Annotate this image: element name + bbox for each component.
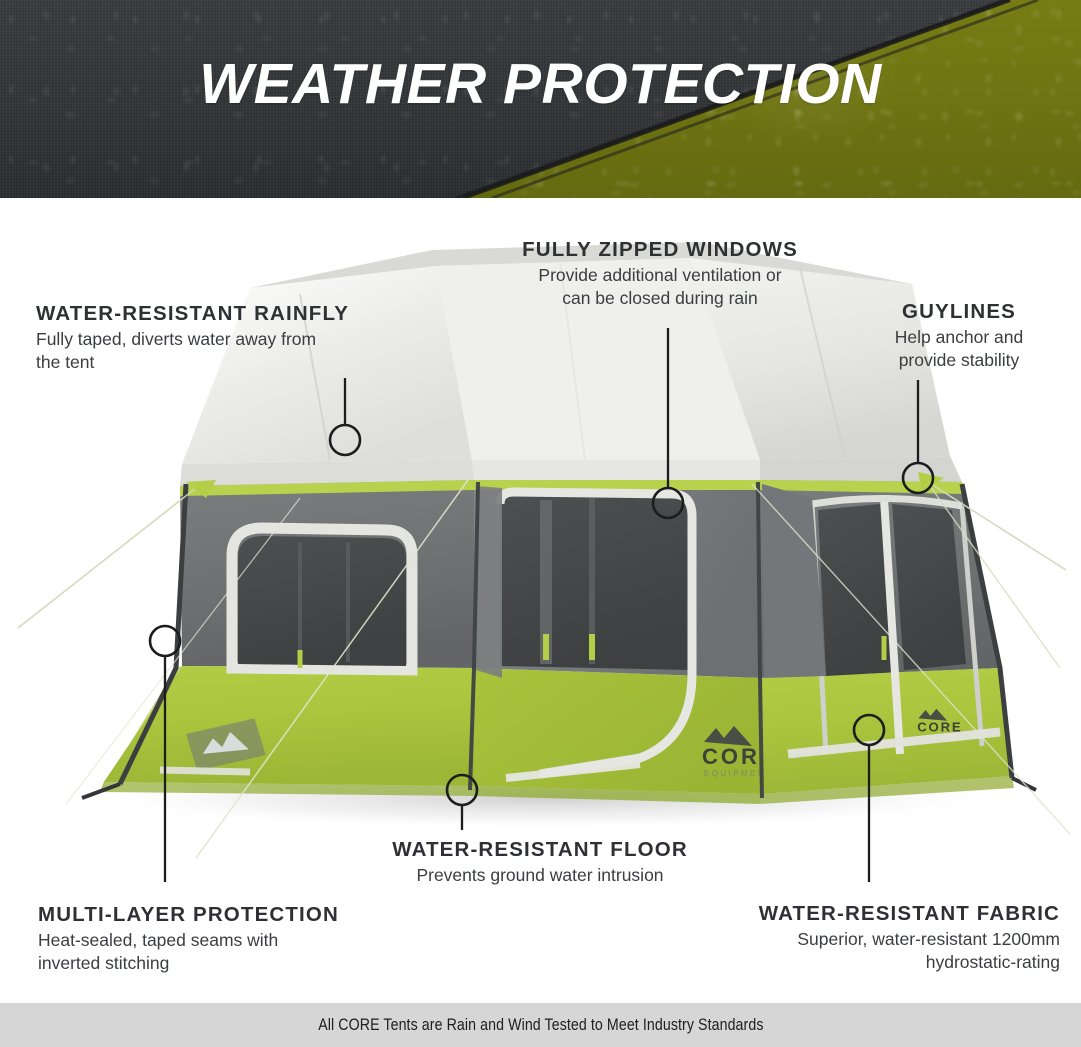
callout-multilayer-body-line1: Heat-sealed, taped seams with: [38, 929, 438, 952]
callout-windows-body-line2: can be closed during rain: [470, 287, 850, 310]
center-left-gray-flap: [476, 486, 502, 678]
callout-guylines-title: GUYLINES: [840, 300, 1078, 324]
callout-fabric-title: WATER-RESISTANT FABRIC: [660, 902, 1060, 926]
callout-floor-body: Prevents ground water intrusion: [330, 864, 750, 887]
callout-windows: FULLY ZIPPED WINDOWS Provide additional …: [470, 238, 850, 310]
callout-fabric-body: Superior, water-resistant 1200mm hydrost…: [660, 928, 1060, 974]
page-title: WEATHER PROTECTION: [0, 56, 1081, 113]
callout-windows-body: Provide additional ventilation or can be…: [470, 264, 850, 310]
callout-multilayer-body-line2: inverted stitching: [38, 952, 438, 975]
callout-rainfly-body: Fully taped, diverts water away from the…: [36, 328, 416, 374]
callout-windows-title: FULLY ZIPPED WINDOWS: [470, 238, 850, 262]
rainfly-eave-center: [472, 460, 760, 480]
left-guyline: [18, 488, 196, 628]
left-reflective-strip: [160, 770, 250, 772]
callout-guylines-body-line1: Help anchor and: [840, 326, 1078, 349]
callout-fabric: WATER-RESISTANT FABRIC Superior, water-r…: [660, 902, 1060, 974]
infographic-page: WEATHER PROTECTION: [0, 0, 1081, 1047]
callout-fabric-body-line2: hydrostatic-rating: [660, 951, 1060, 974]
svg-text:CORE: CORE: [917, 720, 962, 735]
callout-guylines-body-line2: provide stability: [840, 349, 1078, 372]
callout-fabric-body-line1: Superior, water-resistant 1200mm: [660, 928, 1060, 951]
footer-text: All CORE Tents are Rain and Wind Tested …: [318, 1016, 763, 1035]
callout-rainfly-body-line1: Fully taped, diverts water away from: [36, 328, 416, 351]
left-window: [232, 528, 412, 670]
callout-guylines: GUYLINES Help anchor and provide stabili…: [840, 300, 1078, 372]
callout-guylines-body: Help anchor and provide stability: [840, 326, 1078, 372]
footer-bar: All CORE Tents are Rain and Wind Tested …: [0, 1003, 1081, 1047]
callout-rainfly-title: WATER-RESISTANT RAINFLY: [36, 302, 416, 326]
callout-multilayer-title: MULTI-LAYER PROTECTION: [38, 903, 438, 927]
header-banner: WEATHER PROTECTION: [0, 0, 1081, 198]
callout-floor-body-line1: Prevents ground water intrusion: [330, 864, 750, 887]
callout-multilayer: MULTI-LAYER PROTECTION Heat-sealed, tape…: [38, 903, 438, 975]
callout-floor: WATER-RESISTANT FLOOR Prevents ground wa…: [330, 838, 750, 887]
callout-rainfly-body-line2: the tent: [36, 351, 416, 374]
callout-rainfly: WATER-RESISTANT RAINFLY Fully taped, div…: [36, 302, 416, 374]
callout-windows-body-line1: Provide additional ventilation or: [470, 264, 850, 287]
callout-multilayer-body: Heat-sealed, taped seams with inverted s…: [38, 929, 438, 975]
callout-floor-title: WATER-RESISTANT FLOOR: [330, 838, 750, 862]
left-wall-green: [104, 666, 474, 786]
